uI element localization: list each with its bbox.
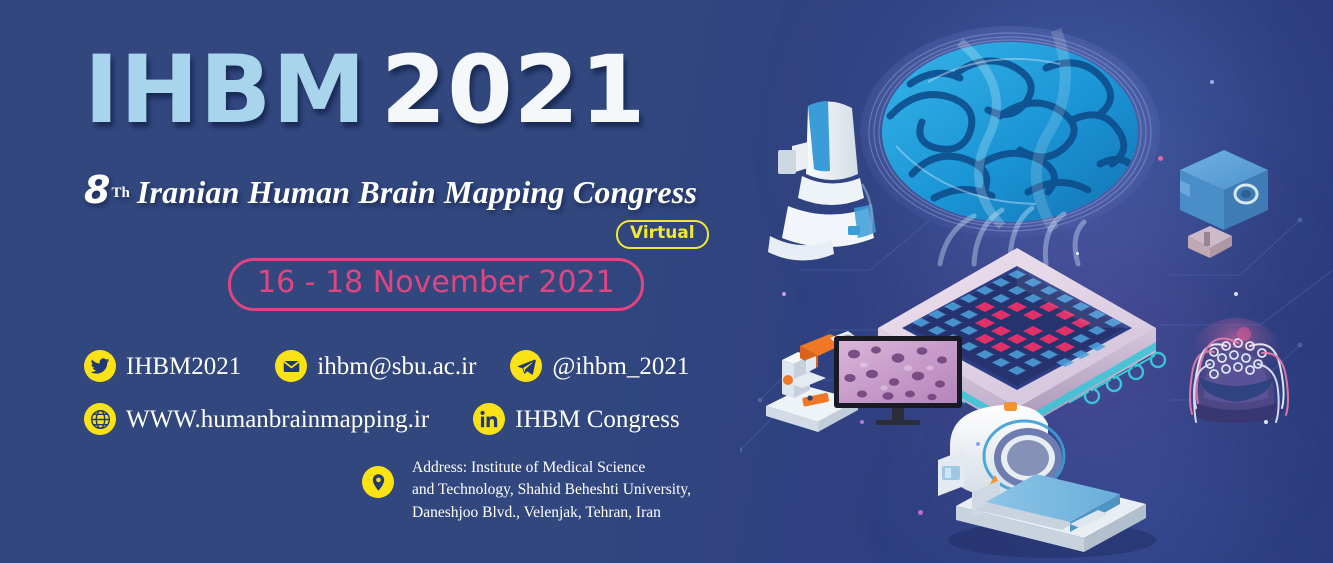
- ordinal-suffix: Th: [111, 185, 129, 201]
- address-english: Address: Institute of Medical Science an…: [412, 457, 702, 524]
- eeg-cap-graphic: [1174, 312, 1304, 432]
- address-english-line: and Technology, Shahid Beheshti Universi…: [412, 479, 702, 501]
- event-subtitle: 8ThIranian Human Brain Mapping Congress: [84, 168, 697, 212]
- imaging-chair-graphic: [762, 88, 892, 268]
- event-logo: IHBM2021: [84, 44, 646, 138]
- contact-website[interactable]: WWW.humanbrainmapping.ir: [84, 403, 429, 435]
- sparkle-dot: [1210, 80, 1214, 84]
- text-panel: IHBM2021 8ThIranian Human Brain Mapping …: [0, 0, 740, 563]
- sparkle-dot: [918, 510, 923, 515]
- contact-twitter[interactable]: IHBM2021: [84, 350, 241, 382]
- twitter-handle: IHBM2021: [126, 354, 241, 379]
- logo-acronym: IHBM: [84, 36, 367, 145]
- conference-banner: IHBM2021 8ThIranian Human Brain Mapping …: [0, 0, 1333, 563]
- globe-icon: [84, 403, 116, 435]
- medical-technology-illustration: [740, 0, 1333, 563]
- sparkle-dot: [782, 292, 786, 296]
- address-english-line: Daneshjoo Blvd., Velenjak, Tehran, Iran: [412, 502, 702, 524]
- ordinal-number: 8: [84, 168, 110, 212]
- subtitle-text: Iranian Human Brain Mapping Congress: [137, 174, 697, 210]
- mri-scanner-graphic: [932, 400, 1172, 560]
- contact-linkedin[interactable]: IHBM Congress: [473, 403, 680, 435]
- contact-email[interactable]: ihbm@sbu.ac.ir: [275, 350, 476, 382]
- contact-telegram[interactable]: @ihbm_2021: [510, 350, 689, 382]
- website-url: WWW.humanbrainmapping.ir: [126, 407, 429, 432]
- twitter-icon: [84, 350, 116, 382]
- telegram-icon: [510, 350, 542, 382]
- virtual-badge: Virtual: [616, 220, 709, 249]
- telegram-handle: @ihbm_2021: [552, 354, 689, 379]
- contact-row-secondary: WWW.humanbrainmapping.ir IHBM Congress: [84, 403, 680, 435]
- sparkle-dot: [1234, 292, 1238, 296]
- contact-row-primary: IHBM2021 ihbm@sbu.ac.ir @ihbm_2021: [84, 350, 689, 382]
- email-address: ihbm@sbu.ac.ir: [317, 354, 476, 379]
- linkedin-icon: [473, 403, 505, 435]
- map-pin-icon: [362, 466, 394, 498]
- linkedin-page: IHBM Congress: [515, 407, 680, 432]
- camera-device-graphic: [1180, 140, 1290, 260]
- logo-year: 2021: [381, 36, 647, 145]
- envelope-icon: [275, 350, 307, 382]
- address-english-line: Address: Institute of Medical Science: [412, 457, 702, 479]
- event-date-badge: 16 - 18 November 2021: [228, 258, 644, 311]
